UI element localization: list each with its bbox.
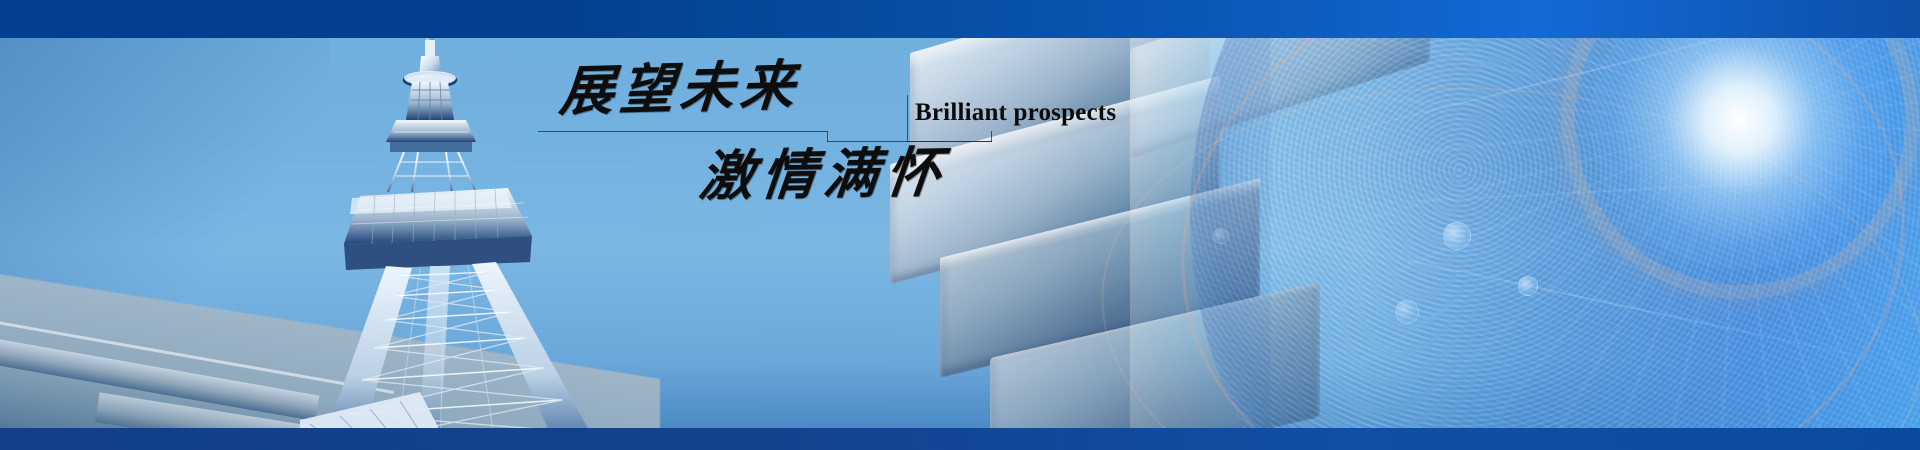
rule-vertical-right bbox=[991, 131, 992, 142]
flare-orb-3 bbox=[1395, 300, 1419, 324]
headline-english: Brilliant prospects bbox=[915, 99, 1116, 126]
top-band bbox=[0, 0, 1920, 38]
rule-horizontal-left bbox=[538, 131, 828, 132]
bottom-band bbox=[0, 428, 1920, 450]
headline-chinese-line-1: 展望未来 bbox=[557, 54, 802, 122]
headline-chinese-line-2: 激情满怀 bbox=[696, 141, 951, 207]
flare-orb-4 bbox=[1213, 228, 1229, 244]
flare-orb-2 bbox=[1518, 276, 1538, 296]
headline-block: 展望未来 Brilliant prospects 激情满怀 bbox=[535, 55, 1015, 225]
rule-vertical-divider bbox=[907, 95, 908, 142]
promo-banner: 展望未来 Brilliant prospects 激情满怀 bbox=[0, 0, 1920, 450]
flare-orb-1 bbox=[1443, 222, 1471, 250]
